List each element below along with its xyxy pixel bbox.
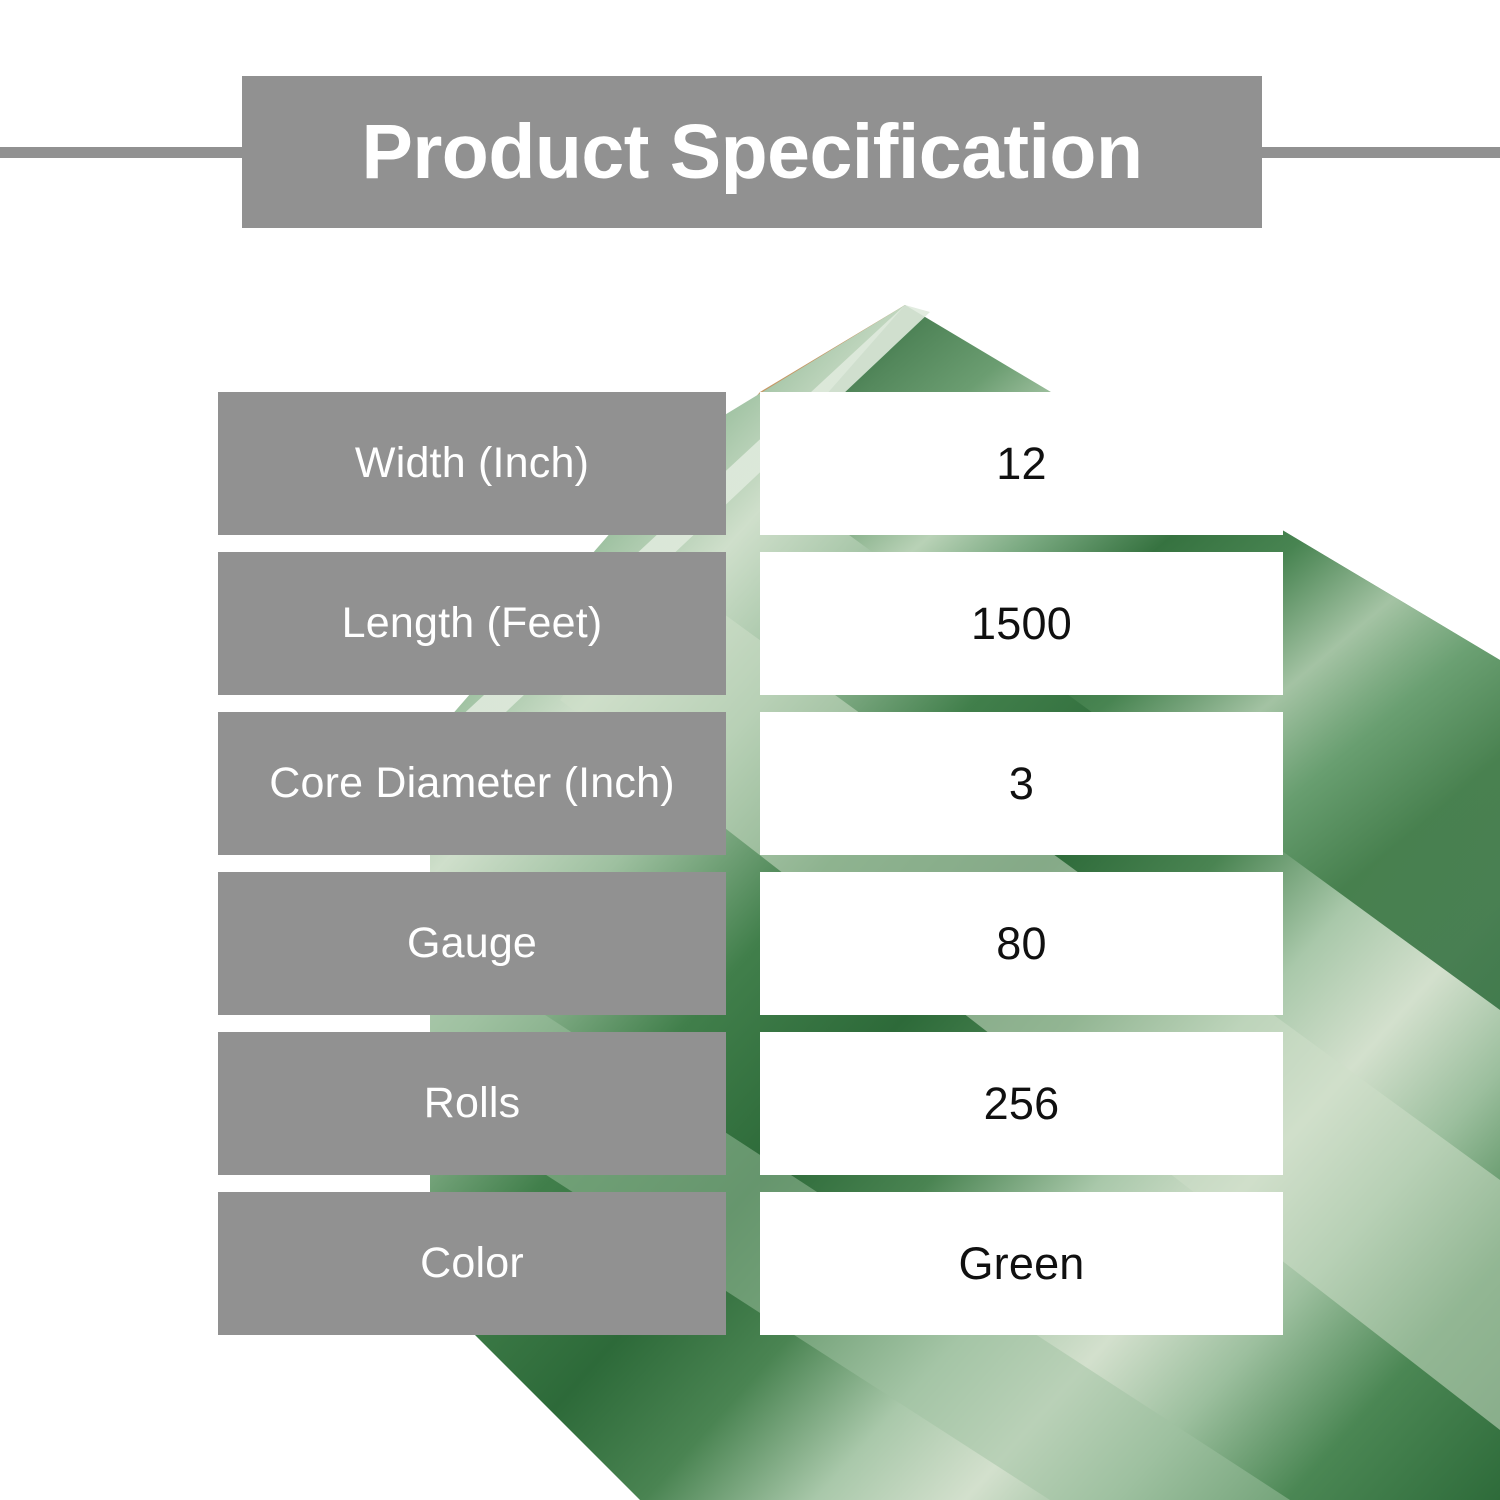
table-row: Rolls 256 <box>218 1032 1283 1175</box>
spec-label: Core Diameter (Inch) <box>218 712 726 855</box>
table-row: Gauge 80 <box>218 872 1283 1015</box>
table-row: Core Diameter (Inch) 3 <box>218 712 1283 855</box>
table-row: Width (Inch) 12 <box>218 392 1283 535</box>
spec-label: Rolls <box>218 1032 726 1175</box>
spec-value: 3 <box>760 712 1283 855</box>
spec-label: Gauge <box>218 872 726 1015</box>
spec-value: 256 <box>760 1032 1283 1175</box>
table-row: Length (Feet) 1500 <box>218 552 1283 695</box>
spec-value: 80 <box>760 872 1283 1015</box>
spec-label: Color <box>218 1192 726 1335</box>
spec-table: Width (Inch) 12 Length (Feet) 1500 Core … <box>0 0 1500 1500</box>
spec-value: 1500 <box>760 552 1283 695</box>
spec-value: Green <box>760 1192 1283 1335</box>
table-row: Color Green <box>218 1192 1283 1335</box>
spec-label: Length (Feet) <box>218 552 726 695</box>
spec-label: Width (Inch) <box>218 392 726 535</box>
spec-value: 12 <box>760 392 1283 535</box>
